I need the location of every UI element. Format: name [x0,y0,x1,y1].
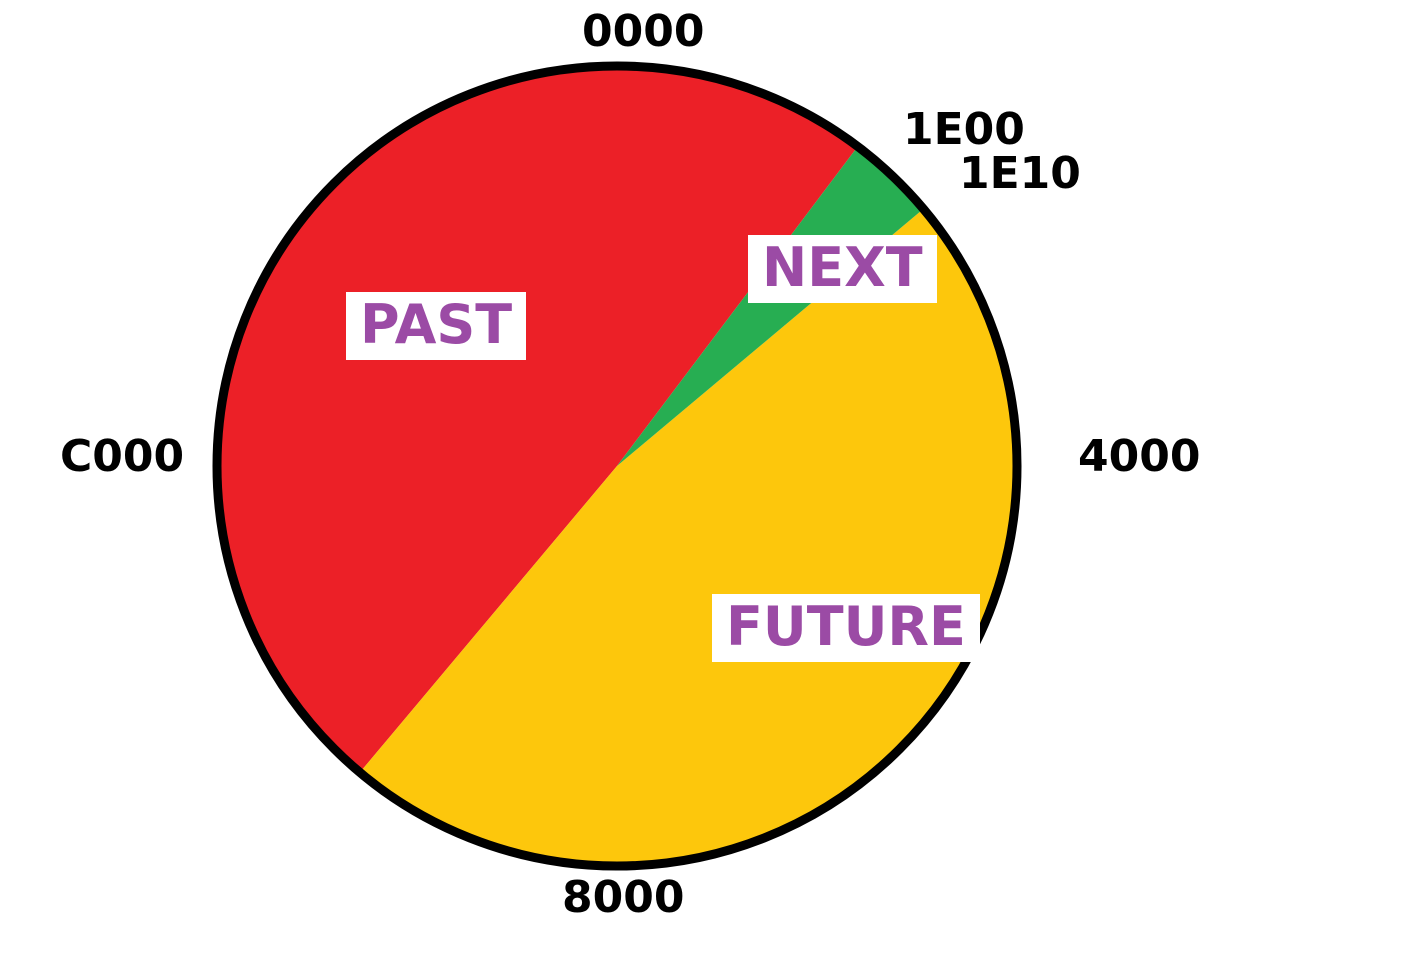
tick-label-1E00: 1E00 [903,108,1025,152]
tick-label-1E10: 1E10 [959,152,1081,196]
region-label-next: NEXT [748,235,937,303]
region-label-past: PAST [346,292,526,360]
tick-label-4000: 4000 [1078,435,1200,479]
tick-label-8000: 8000 [562,876,684,920]
timing-wheel-figure: 0000 1E00 1E10 4000 8000 C000 PAST NEXT … [0,0,1404,949]
tick-label-0000: 0000 [582,10,704,54]
tick-label-C000: C000 [60,435,184,479]
region-label-future: FUTURE [712,594,980,662]
